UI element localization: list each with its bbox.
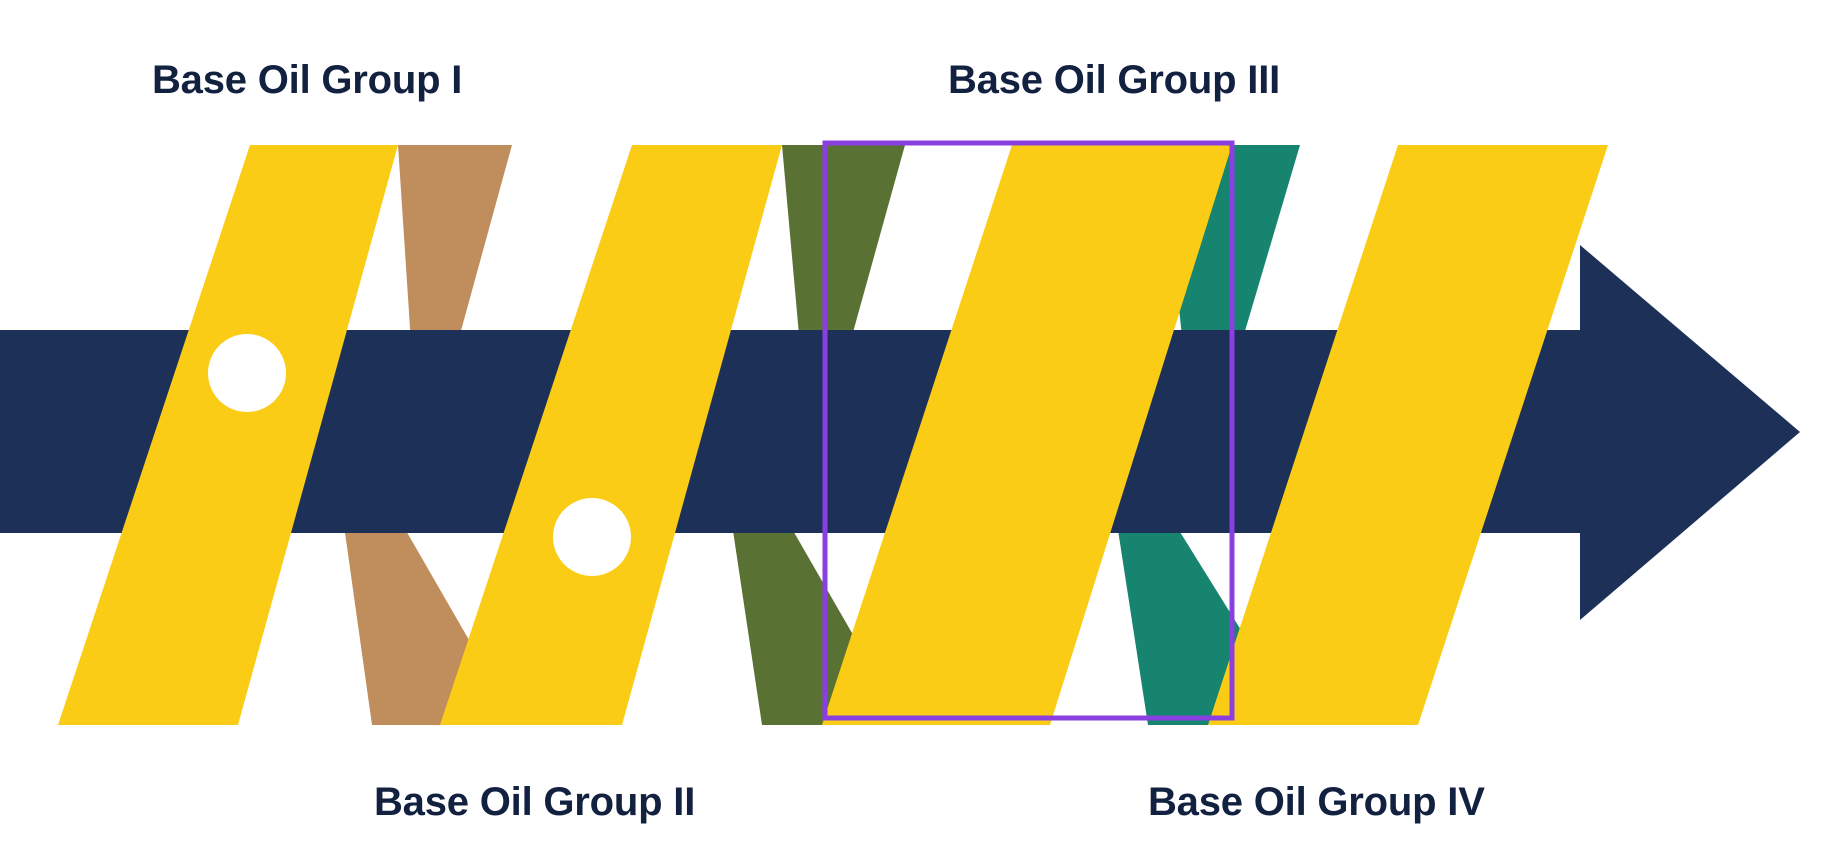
diagram-canvas: Base Oil Group I Base Oil Group III Base… [0,0,1842,868]
label-base-oil-group-4: Base Oil Group IV [1148,782,1485,822]
label-base-oil-group-1: Base Oil Group I [152,60,462,100]
white-circle-1 [208,334,286,412]
base-oil-groups-graphic [0,0,1842,868]
label-base-oil-group-3: Base Oil Group III [948,60,1280,100]
label-base-oil-group-2: Base Oil Group II [374,782,695,822]
white-circle-2 [553,498,631,576]
